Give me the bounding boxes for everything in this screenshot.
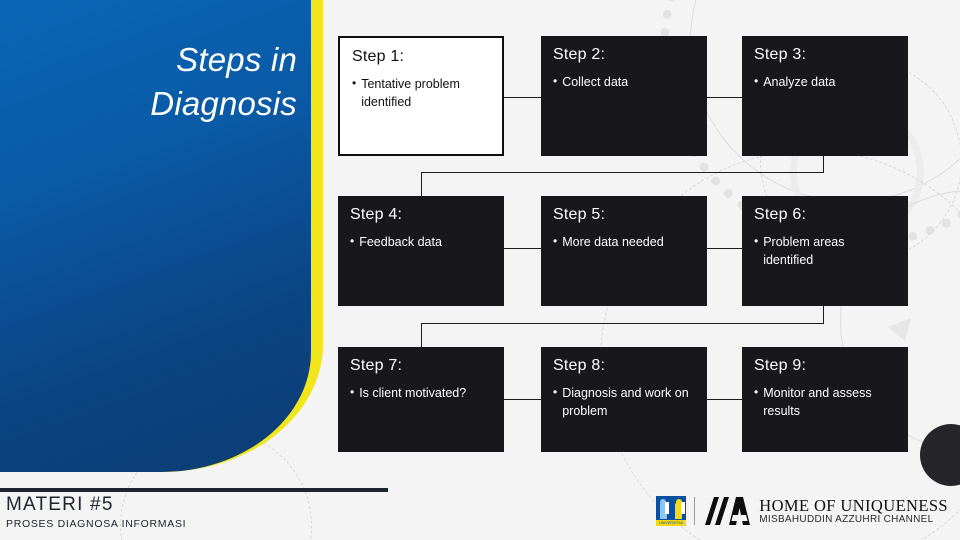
step-3-text: Analyze data bbox=[763, 74, 835, 91]
connector-step6-step7-horizontal bbox=[421, 323, 824, 324]
step-9-text: Monitor and assess results bbox=[763, 385, 896, 420]
step-box-9[interactable]: Step 9: • Monitor and assess results bbox=[742, 347, 908, 452]
step-2-text: Collect data bbox=[562, 74, 628, 91]
brand-lockup: UNIVERSITAS BRAWIJAYA HOME OF UNIQUENESS… bbox=[656, 490, 948, 532]
step-3-title: Step 3: bbox=[754, 46, 896, 64]
step-box-2[interactable]: Step 2: • Collect data bbox=[541, 36, 707, 156]
bullet-icon: • bbox=[352, 76, 356, 90]
step-box-1[interactable]: Step 1: • Tentative problem identified bbox=[338, 36, 504, 156]
bullet-icon: • bbox=[553, 234, 557, 248]
step-2-body: • Collect data bbox=[553, 74, 695, 91]
connector-step5-step6 bbox=[705, 248, 745, 249]
process-flow-diagram: Step 1: • Tentative problem identified S… bbox=[0, 0, 960, 540]
bullet-icon: • bbox=[553, 74, 557, 88]
footer-divider bbox=[0, 488, 388, 492]
step-1-body: • Tentative problem identified bbox=[352, 76, 490, 111]
connector-step3-down bbox=[823, 155, 824, 173]
step-7-title: Step 7: bbox=[350, 357, 492, 375]
step-7-text: Is client motivated? bbox=[359, 385, 466, 402]
step-box-4[interactable]: Step 4: • Feedback data bbox=[338, 196, 504, 306]
step-5-title: Step 5: bbox=[553, 206, 695, 224]
step-4-text: Feedback data bbox=[359, 234, 442, 251]
connector-step1-step2 bbox=[503, 97, 543, 98]
step-7-body: • Is client motivated? bbox=[350, 385, 492, 402]
footer-title: MATERI #5 bbox=[6, 494, 114, 516]
bullet-icon: • bbox=[754, 234, 758, 248]
bullet-icon: • bbox=[350, 234, 354, 248]
step-box-5[interactable]: Step 5: • More data needed bbox=[541, 196, 707, 306]
bullet-icon: • bbox=[553, 385, 557, 399]
step-box-8[interactable]: Step 8: • Diagnosis and work on problem bbox=[541, 347, 707, 452]
step-9-body: • Monitor and assess results bbox=[754, 385, 896, 420]
step-8-title: Step 8: bbox=[553, 357, 695, 375]
step-3-body: • Analyze data bbox=[754, 74, 896, 91]
connector-step4-step5 bbox=[503, 248, 543, 249]
step-6-title: Step 6: bbox=[754, 206, 896, 224]
footer-subtitle: PROSES DIAGNOSA INFORMASI bbox=[6, 518, 186, 530]
connector-step8-step9 bbox=[705, 399, 745, 400]
step-6-body: • Problem areas identified bbox=[754, 234, 896, 269]
brand-tagline: HOME OF UNIQUENESS bbox=[759, 497, 948, 515]
step-box-6[interactable]: Step 6: • Problem areas identified bbox=[742, 196, 908, 306]
connector-step4-down bbox=[421, 172, 422, 196]
connector-step2-step3 bbox=[705, 97, 745, 98]
step-9-title: Step 9: bbox=[754, 357, 896, 375]
bullet-icon: • bbox=[754, 74, 758, 88]
bullet-icon: • bbox=[350, 385, 354, 399]
step-box-3[interactable]: Step 3: • Analyze data bbox=[742, 36, 908, 156]
step-box-7[interactable]: Step 7: • Is client motivated? bbox=[338, 347, 504, 452]
step-6-text: Problem areas identified bbox=[763, 234, 896, 269]
step-4-body: • Feedback data bbox=[350, 234, 492, 251]
step-1-title: Step 1: bbox=[352, 48, 490, 66]
university-logo-icon: UNIVERSITAS BRAWIJAYA bbox=[656, 496, 686, 526]
step-1-text: Tentative problem identified bbox=[361, 76, 490, 111]
step-5-text: More data needed bbox=[562, 234, 663, 251]
bullet-icon: • bbox=[754, 385, 758, 399]
brand-divider bbox=[694, 497, 695, 525]
ma-monogram-icon bbox=[703, 495, 751, 527]
step-5-body: • More data needed bbox=[553, 234, 695, 251]
step-8-text: Diagnosis and work on problem bbox=[562, 385, 695, 420]
step-8-body: • Diagnosis and work on problem bbox=[553, 385, 695, 420]
connector-step7-step8 bbox=[503, 399, 543, 400]
step-2-title: Step 2: bbox=[553, 46, 695, 64]
step-4-title: Step 4: bbox=[350, 206, 492, 224]
logo-caption-strip: UNIVERSITAS BRAWIJAYA bbox=[656, 520, 686, 526]
brand-channel-name: MISBAHUDDIN AZZUHRI CHANNEL bbox=[759, 515, 948, 526]
brand-text: HOME OF UNIQUENESS MISBAHUDDIN AZZUHRI C… bbox=[759, 497, 948, 526]
connector-step3-step4-horizontal bbox=[421, 172, 824, 173]
slide-canvas: Steps in Diagnosis Step 1: • Tentative p… bbox=[0, 0, 960, 540]
connector-step7-down bbox=[421, 323, 422, 347]
connector-step6-down bbox=[823, 306, 824, 324]
logo-m-shape bbox=[665, 502, 685, 514]
